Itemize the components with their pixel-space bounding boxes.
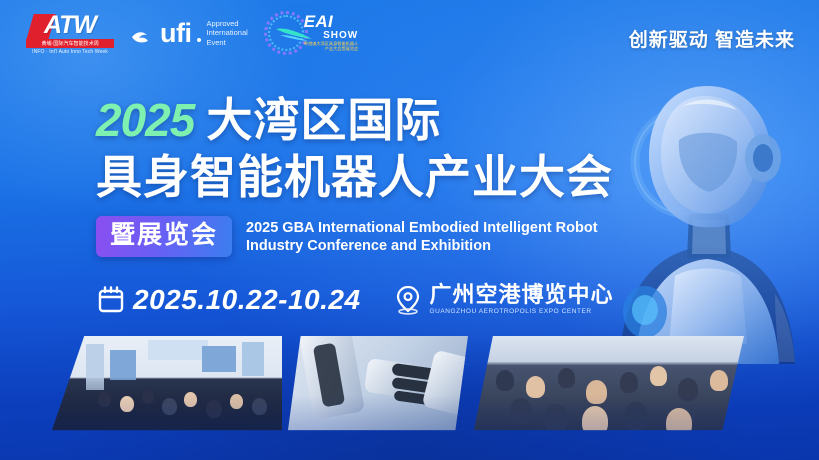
venue-name-cn: 广州空港博览中心 (430, 283, 614, 307)
title-block: 2025大湾区国际 具身智能机器人产业大会 (96, 92, 613, 204)
info-row: 2025.10.22-10.24 广州空港博览中心 GUANGZHOU AERO… (98, 283, 614, 316)
logo-row: ATW 黄埔·国际汽车智能技术周 INFO · Int'l Auto Inno … (24, 8, 350, 58)
ufi-dot (197, 38, 201, 42)
atw-letters: ATW (44, 13, 96, 38)
event-date: 2025.10.22-10.24 (133, 284, 361, 316)
eai-subtitle: SHOW (304, 30, 358, 41)
ufi-text: ufi (160, 20, 192, 46)
ufi-tag-line2: International (207, 28, 248, 38)
photo-conference-audience (474, 336, 744, 434)
atw-mark: ATW (30, 10, 110, 40)
photo-expo-hall-crowd (52, 336, 282, 434)
english-subtitle-line2: Industry Conference and Exhibition (246, 237, 598, 255)
atw-banner-en: INFO · Int'l Auto Inno Tech Week (26, 49, 114, 55)
header-tagline: 创新驱动 智造未来 (629, 30, 795, 52)
atw-banner-cn-text: 黄埔·国际汽车智能技术周 (41, 41, 98, 47)
humanoid-robot-figure (579, 44, 819, 364)
eai-title: EAI (304, 14, 358, 30)
english-subtitle-line1: 2025 GBA International Embodied Intellig… (246, 219, 598, 237)
atw-logo[interactable]: ATW 黄埔·国际汽车智能技术周 INFO · Int'l Auto Inno … (24, 8, 116, 58)
photo-robot-hand-content (288, 336, 468, 434)
photo-strip (52, 336, 752, 434)
venue-item: 广州空港博览中心 GUANGZHOU AEROTROPOLIS EXPO CEN… (395, 283, 614, 316)
atw-banner-cn: 黄埔·国际汽车智能技术周 (26, 39, 114, 48)
subtitle-row: 暨展览会 2025 GBA International Embodied Int… (96, 216, 598, 257)
ufi-tagline: Approved International Event (207, 19, 248, 48)
english-subtitle: 2025 GBA International Embodied Intellig… (246, 219, 598, 255)
poster-canvas: ATW 黄埔·国际汽车智能技术周 INFO · Int'l Auto Inno … (0, 0, 819, 460)
ufi-wordmark: ufi (132, 20, 201, 46)
eai-cn-line2: 产业大会暨展览会 (304, 46, 358, 51)
exhibition-badge: 暨展览会 (96, 216, 232, 257)
eai-text-block: EAI SHOW 粤港澳大湾区具身智能机器人 产业大会暨展览会 (304, 14, 358, 51)
calendar-icon (98, 286, 124, 313)
date-item: 2025.10.22-10.24 (98, 284, 361, 316)
eai-show-logo[interactable]: EAI SHOW 粤港澳大湾区具身智能机器人 产业大会暨展览会 (264, 8, 350, 58)
ufi-tag-line1: Approved (207, 19, 248, 29)
venue-name-en: GUANGZHOU AEROTROPOLIS EXPO CENTER (430, 307, 614, 316)
title-line-1-cn: 大湾区国际 (206, 94, 441, 146)
ufi-logo[interactable]: ufi Approved International Event (132, 19, 248, 48)
venue-text-block: 广州空港博览中心 GUANGZHOU AEROTROPOLIS EXPO CEN… (430, 283, 614, 316)
photo-robot-hand (288, 336, 468, 434)
title-line-1: 2025大湾区国际 (96, 92, 613, 148)
ufi-swoosh-icon (132, 30, 158, 44)
ufi-tag-line3: Event (207, 38, 248, 48)
title-year: 2025 (96, 94, 194, 146)
title-line-2: 具身智能机器人产业大会 (96, 150, 613, 204)
photo-audience-content (474, 336, 744, 434)
location-pin-icon (395, 285, 421, 315)
photo-expo-hall-content (52, 336, 282, 434)
